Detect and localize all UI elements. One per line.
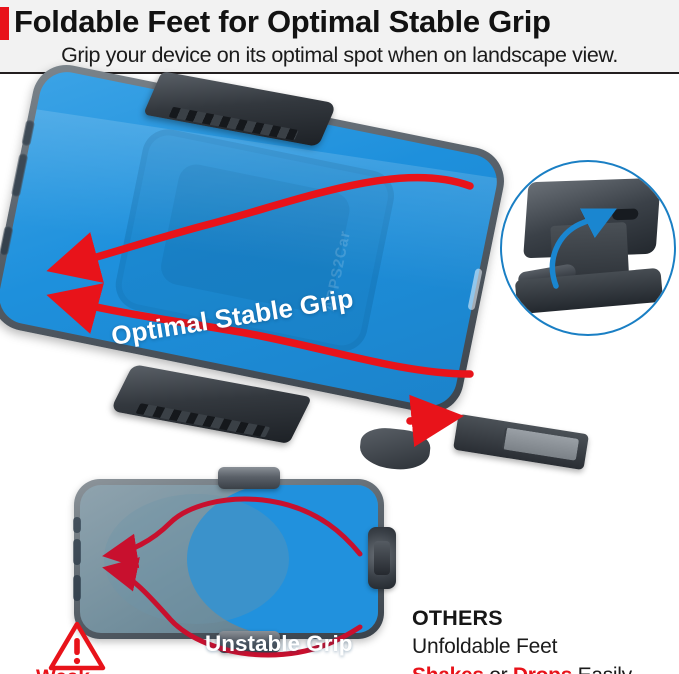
foldable-foot-closeup-inset	[500, 160, 676, 336]
illustration-stage: APPS2Car	[0, 74, 679, 674]
others-line-shakes-drops: Shakes or Drops Easily	[412, 661, 674, 674]
page-title: Foldable Feet for Optimal Stable Grip	[14, 2, 669, 42]
others-line-unfoldable-feet: Unfoldable Feet	[412, 632, 674, 661]
weak-label: Weak	[36, 666, 90, 674]
warning-triangle-icon	[48, 620, 106, 672]
others-text-block: OTHERS Unfoldable Feet Shakes or Drops E…	[412, 604, 674, 674]
label-unstable-grip: Unstable Grip	[205, 631, 353, 657]
infographic-page: Foldable Feet for Optimal Stable Grip Gr…	[0, 0, 679, 674]
title-accent-bar	[0, 7, 9, 40]
others-title: OTHERS	[412, 604, 674, 632]
others-highlight-word: Drops	[513, 664, 572, 674]
inset-fold-arrow	[502, 162, 674, 334]
page-subtitle: Grip your device on its optimal spot whe…	[0, 40, 679, 70]
arrow-others-upper	[110, 499, 360, 555]
main-product-scene: APPS2Car	[0, 74, 679, 459]
others-plain-word: or	[484, 664, 513, 674]
arrow-right-short	[410, 417, 452, 421]
arrow-upper-sweep	[58, 178, 470, 268]
others-plain-word: Easily	[572, 664, 632, 674]
header-band: Foldable Feet for Optimal Stable Grip Gr…	[0, 0, 679, 74]
others-highlight-word: Shakes	[412, 664, 484, 674]
